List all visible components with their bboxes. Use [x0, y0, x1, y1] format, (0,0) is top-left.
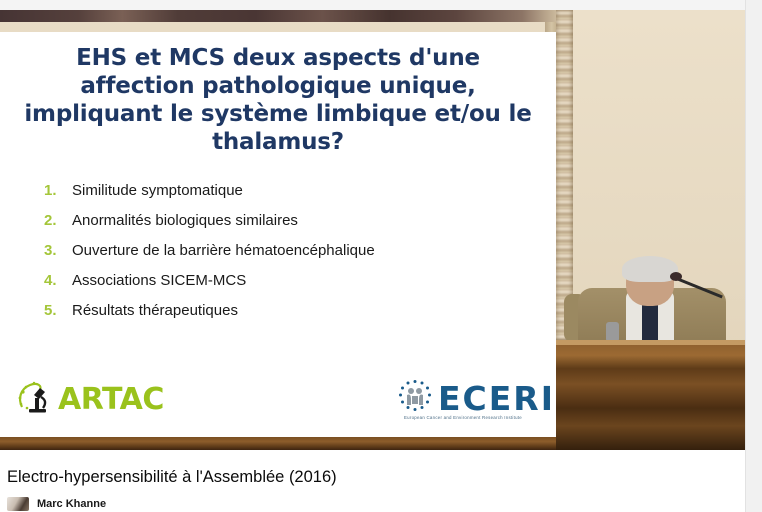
- desk-microphone-icon: [606, 322, 619, 342]
- list-item: 3. Ouverture de la barrière hématoencéph…: [0, 242, 556, 259]
- microscope-icon: [14, 377, 56, 422]
- podium-top-edge: [556, 340, 746, 345]
- list-item-label: Associations SICEM-MCS: [72, 272, 246, 289]
- slide-title: EHS et MCS deux aspects d'une affection …: [18, 44, 538, 156]
- slide-numbered-list: 1. Similitude symptomatique 2. Anormalit…: [0, 182, 556, 319]
- list-item-number: 4.: [44, 272, 72, 289]
- video-title[interactable]: Electro-hypersensibilité à l'Assemblée (…: [7, 468, 337, 487]
- artac-logo: ARTAC: [14, 377, 164, 422]
- list-item-label: Similitude symptomatique: [72, 182, 243, 199]
- microphone-icon: [670, 272, 682, 281]
- video-watch-page: EHS et MCS deux aspects d'une affection …: [0, 0, 762, 512]
- wooden-podium: [556, 340, 746, 450]
- eceri-logo-subtitle: European Cancer and Environment Research…: [404, 415, 522, 420]
- slide-logo-row: ARTAC: [0, 373, 556, 431]
- list-item: 5. Résultats thérapeutiques: [0, 302, 556, 319]
- list-item: 4. Associations SICEM-MCS: [0, 272, 556, 289]
- list-item-label: Résultats thérapeutiques: [72, 302, 238, 319]
- list-item-label: Ouverture de la barrière hématoencéphali…: [72, 242, 375, 259]
- page-top-strip: [0, 0, 746, 10]
- list-item-number: 1.: [44, 182, 72, 199]
- page-scrollbar-track[interactable]: [745, 0, 762, 512]
- channel-avatar-icon[interactable]: [7, 497, 29, 511]
- eceri-logo-text: ECERI: [438, 382, 555, 415]
- channel-name[interactable]: Marc Khanne: [37, 498, 106, 510]
- eceri-emblem-icon: [398, 379, 432, 418]
- list-item-label: Anormalités biologiques similaires: [72, 212, 298, 229]
- channel-row[interactable]: Marc Khanne: [7, 497, 106, 511]
- list-item: 2. Anormalités biologiques similaires: [0, 212, 556, 229]
- room-upper-band: [0, 10, 556, 22]
- list-item-number: 2.: [44, 212, 72, 229]
- video-player[interactable]: EHS et MCS deux aspects d'une affection …: [0, 10, 746, 450]
- presentation-slide: EHS et MCS deux aspects d'une affection …: [0, 32, 556, 437]
- video-meta-section: Electro-hypersensibilité à l'Assemblée (…: [0, 450, 746, 512]
- list-item-number: 5.: [44, 302, 72, 319]
- speaker-figure: [570, 260, 735, 345]
- artac-logo-text: ARTAC: [58, 382, 164, 417]
- list-item: 1. Similitude symptomatique: [0, 182, 556, 199]
- eceri-logo: ECERI: [398, 379, 555, 418]
- list-item-number: 3.: [44, 242, 72, 259]
- room-wood-band: [0, 437, 556, 450]
